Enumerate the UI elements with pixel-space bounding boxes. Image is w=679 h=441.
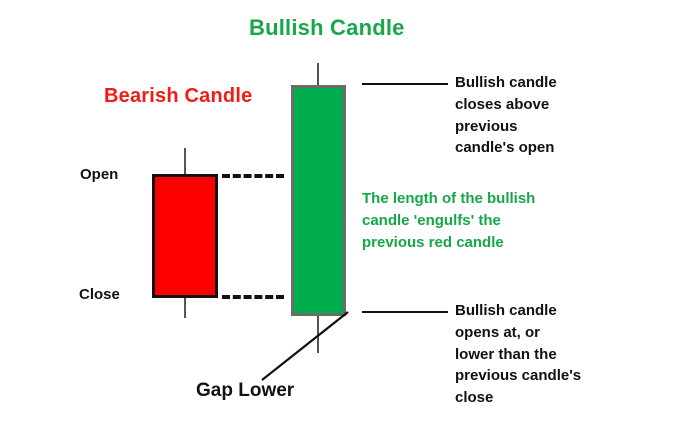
annotation-engulfs: The length of the bullish candle 'engulf… [362,188,612,253]
gap-lower-leader-line [240,310,350,385]
bearish-candle-body [152,174,218,298]
close-price-label: Close [79,286,120,303]
close-level-dashed-line [222,295,284,299]
bearish-candle-title: Bearish Candle [104,85,252,108]
annotation-close-above-open: Bullish candle closes above previous can… [455,72,670,159]
gap-lower-label: Gap Lower [196,380,294,402]
bullish-candle-body [291,85,346,316]
open-price-label: Open [80,166,118,183]
annotation-opens-lower: Bullish candle opens at, or lower than t… [455,300,670,409]
bottom-annotation-leader-line [362,311,448,313]
candlestick-diagram: Bullish Candle Bearish Candle Open Close… [0,0,679,441]
top-annotation-leader-line [362,83,448,85]
bullish-candle-title: Bullish Candle [249,15,405,41]
open-level-dashed-line [222,174,284,178]
